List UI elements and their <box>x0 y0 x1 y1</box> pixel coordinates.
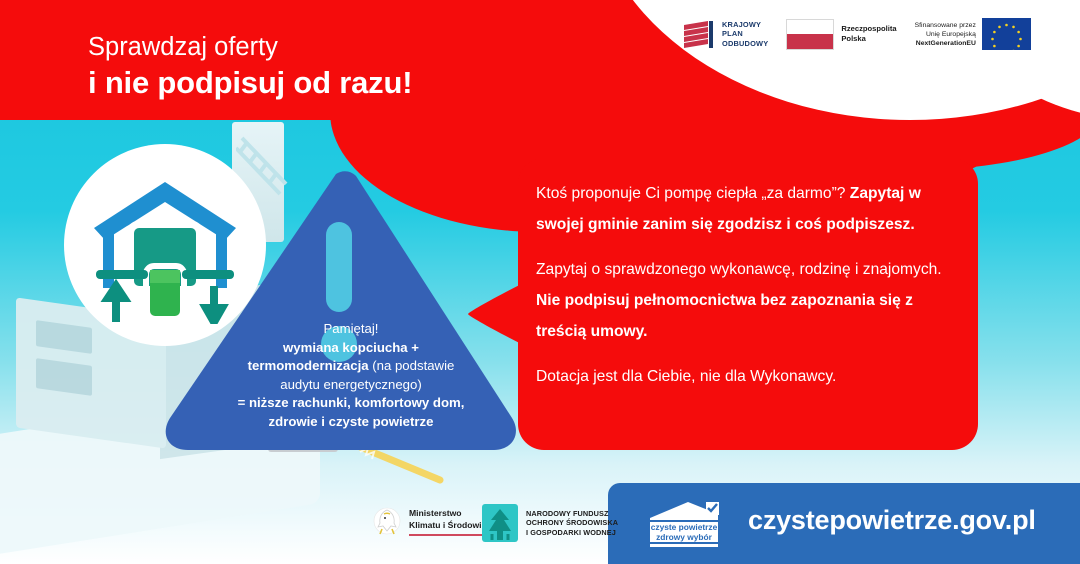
eu-line1: Sfinansowane przez <box>915 21 976 30</box>
triangle-note-line3b: (na podstawie <box>369 358 455 373</box>
triangle-note-line5: = niższe rachunki, komfortowy dom, <box>238 395 465 410</box>
clean-air-house-icon: czyste powietrze zdrowy wybór <box>644 502 732 548</box>
kpo-line1: KRAJOWY <box>722 20 768 29</box>
triangle-note-text: Pamiętaj! wymiana kopciucha + termomoder… <box>216 320 486 431</box>
triangle-note-line3a: termomodernizacja <box>248 358 369 373</box>
top-logo-row: KRAJOWY PLAN ODBUDOWY Rzeczpospolita Pol… <box>682 18 1031 50</box>
kpo-mark-icon <box>682 19 716 49</box>
eu-line2: Unię Europejską <box>915 30 976 39</box>
bubble-p2-regular: Zapytaj o sprawdzonego wykonawcę, rodzin… <box>536 261 942 278</box>
speech-bubble-text: Ktoś proponuje Ci pompę ciepła „za darmo… <box>536 178 956 392</box>
logo-narodowy-fundusz: NARODOWY FUNDUSZ OCHRONY ŚRODOWISKA I GO… <box>482 504 618 542</box>
exclamation-mark-icon <box>326 222 352 312</box>
kpo-logo-text: KRAJOWY PLAN ODBUDOWY <box>722 20 768 48</box>
headline-line2: i nie podpisuj od razu! <box>88 63 412 103</box>
kpo-line2: PLAN <box>722 29 768 38</box>
polish-flag-icon <box>786 19 834 50</box>
logo-krajowy-plan-odbudowy: KRAJOWY PLAN ODBUDOWY <box>682 19 768 49</box>
triangle-note-line6: zdrowie i czyste powietrze <box>269 414 434 429</box>
headline: Sprawdzaj oferty i nie podpisuj od razu! <box>88 32 412 103</box>
eu-line3: NextGenerationEU <box>915 39 976 48</box>
triangle-note-line4: audytu energetycznego) <box>216 376 486 395</box>
republic-logo-text: Rzeczpospolita Polska <box>841 24 896 44</box>
eu-flag-icon <box>982 18 1031 50</box>
polish-eagle-icon <box>372 505 402 539</box>
eu-stars-icon <box>982 18 1031 50</box>
svg-text:czyste powietrze: czyste powietrze <box>651 522 718 532</box>
bubble-paragraph-1: Ktoś proponuje Ci pompę ciepła „za darmo… <box>536 178 956 240</box>
flag-red-stripe <box>787 34 833 49</box>
logo-european-union: Sfinansowane przez Unię Europejską NextG… <box>915 18 1031 50</box>
headline-line1: Sprawdzaj oferty <box>88 32 412 63</box>
fund-line3: I GOSPODARKI WODNEJ <box>526 528 618 538</box>
triangle-note-line1: Pamiętaj! <box>216 320 486 339</box>
infographic-poster: Sprawdzaj oferty i nie podpisuj od razu!… <box>0 0 1080 564</box>
fund-line1: NARODOWY FUNDUSZ <box>526 509 618 519</box>
bubble-paragraph-3: Dotacja jest dla Ciebie, nie dla Wykonaw… <box>536 361 956 392</box>
logo-rzeczpospolita-polska: Rzeczpospolita Polska <box>786 19 896 50</box>
fund-logo-text: NARODOWY FUNDUSZ OCHRONY ŚRODOWISKA I GO… <box>526 509 618 538</box>
tree-icon <box>482 504 518 542</box>
flag-white-stripe <box>787 20 833 35</box>
bubble-paragraph-2: Zapytaj o sprawdzonego wykonawcę, rodzin… <box>536 254 956 347</box>
republic-line1: Rzeczpospolita <box>841 24 896 34</box>
republic-line2: Polska <box>841 34 896 44</box>
kpo-line3: ODBUDOWY <box>722 39 768 48</box>
footer-url-text[interactable]: czystepowietrze.gov.pl <box>748 505 1036 536</box>
eu-logo-text: Sfinansowane przez Unię Europejską NextG… <box>915 21 976 48</box>
triangle-note-line2: wymiana kopciucha + <box>283 340 419 355</box>
bubble-p2-bold: Nie podpisuj pełnomocnictwa bez zapoznan… <box>536 292 913 340</box>
bubble-p1-regular: Ktoś proponuje Ci pompę ciepła „za darmo… <box>536 185 845 202</box>
svg-text:zdrowy wybór: zdrowy wybór <box>656 532 713 542</box>
fund-line2: OCHRONY ŚRODOWISKA <box>526 518 618 528</box>
